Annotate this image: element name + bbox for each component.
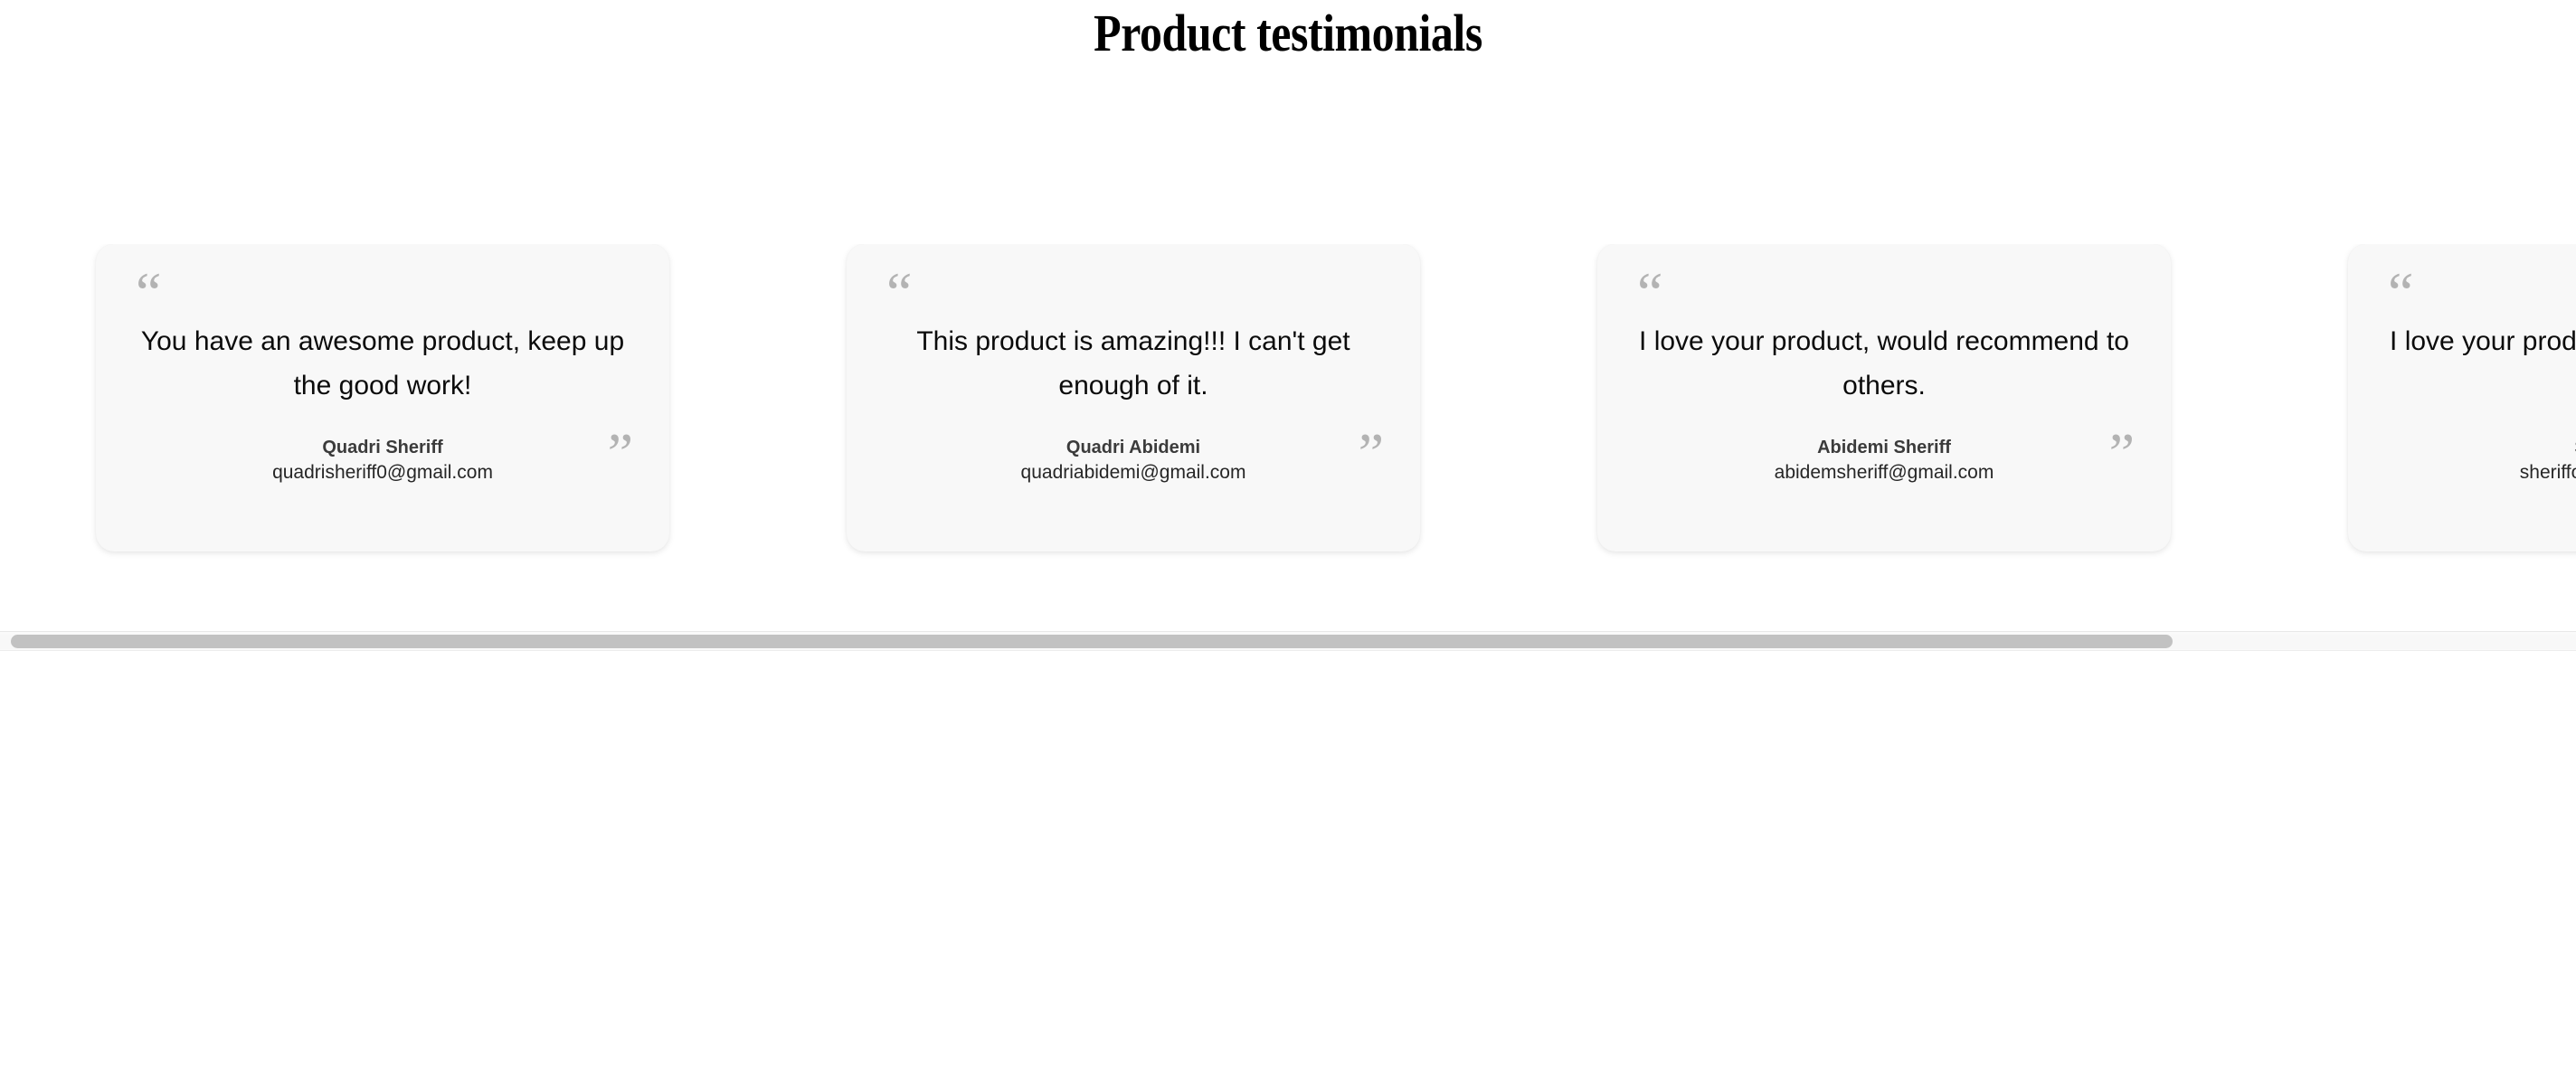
quote-open-icon: “ <box>1637 264 1662 322</box>
testimonial-quote: I love your product, would recommend to … <box>1632 320 2136 408</box>
testimonial-author: Sheriff Quadri sheriffolatunde@gmail.com <box>2382 436 2576 485</box>
quote-open-icon: “ <box>886 264 912 322</box>
testimonial-quote: This product is amazing!!! I can't get e… <box>881 320 1386 408</box>
testimonial-card[interactable]: “ I love your product, would recommend t… <box>2348 244 2576 551</box>
carousel-track[interactable]: “ You have an awesome product, keep up t… <box>96 244 2576 551</box>
testimonial-carousel: “ You have an awesome product, keep up t… <box>0 244 2576 570</box>
author-email: quadriabidemi@gmail.com <box>881 460 1386 485</box>
author-email: sheriffolatunde@gmail.com <box>2382 460 2576 485</box>
testimonial-author: Quadri Abidemi quadriabidemi@gmail.com <box>881 436 1386 485</box>
testimonial-card[interactable]: “ I love your product, would recommend t… <box>1597 244 2171 551</box>
horizontal-scrollbar[interactable] <box>0 631 2576 651</box>
testimonial-quote: I love your product, would recommend to … <box>2382 320 2576 408</box>
author-email: quadrisheriff0@gmail.com <box>130 460 635 485</box>
page-title: Product testimonials <box>180 0 2395 60</box>
testimonial-card[interactable]: “ This product is amazing!!! I can't get… <box>847 244 1420 551</box>
author-email: abidemsheriff@gmail.com <box>1632 460 2136 485</box>
scrollbar-thumb[interactable] <box>11 635 2173 648</box>
testimonial-quote: You have an awesome product, keep up the… <box>130 320 635 408</box>
author-name: Quadri Abidemi <box>881 436 1386 460</box>
testimonial-author: Quadri Sheriff quadrisheriff0@gmail.com <box>130 436 635 485</box>
author-name: Abidemi Sheriff <box>1632 436 2136 460</box>
testimonial-author: Abidemi Sheriff abidemsheriff@gmail.com <box>1632 436 2136 485</box>
quote-open-icon: “ <box>136 264 161 322</box>
quote-open-icon: “ <box>2388 264 2413 322</box>
author-name: Sheriff Quadri <box>2382 436 2576 460</box>
author-name: Quadri Sheriff <box>130 436 635 460</box>
testimonial-card[interactable]: “ You have an awesome product, keep up t… <box>96 244 669 551</box>
